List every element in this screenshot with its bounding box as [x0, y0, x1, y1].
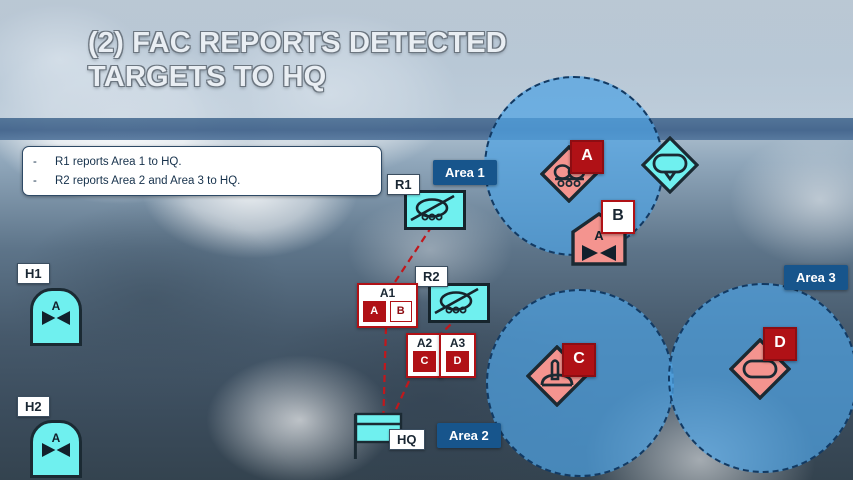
header-divider-rule [0, 118, 853, 140]
note-text: R1 reports Area 1 to HQ. [55, 156, 182, 168]
recon-wheeled-icon [431, 286, 483, 316]
target-d-chip: D [763, 327, 797, 361]
report-a2[interactable]: A2 C [406, 333, 443, 378]
area-1-badge: Area 1 [433, 160, 497, 185]
recon-unit-r1-label: R1 [387, 174, 420, 195]
report-a3[interactable]: A3 D [439, 333, 476, 378]
recon-wheeled-icon [407, 193, 459, 223]
recon-unit-r2[interactable] [428, 283, 490, 323]
recon-unit-r1[interactable] [404, 190, 466, 230]
report-a1-slot-b: B [390, 301, 413, 322]
report-a2-slot-c: C [413, 351, 436, 372]
note-text: R2 reports Area 2 and Area 3 to HQ. [55, 175, 240, 187]
target-air-defense[interactable] [641, 136, 699, 194]
target-a-chip: A [570, 140, 604, 174]
friendly-unit-h2[interactable]: A [30, 420, 82, 478]
friendly-unit-h1[interactable]: A [30, 288, 82, 346]
note-item-2: -R2 reports Area 2 and Area 3 to HQ. [33, 172, 381, 191]
infantry-bowtie-icon [41, 310, 71, 326]
report-a1[interactable]: A1 A B [357, 283, 418, 328]
area-3-badge: Area 3 [784, 265, 848, 290]
friendly-unit-h1-label: H1 [17, 263, 50, 284]
report-a3-slot-d: D [446, 351, 469, 372]
air-defense-radar-icon [641, 136, 699, 194]
friendly-unit-h2-label: H2 [17, 396, 50, 417]
slide-canvas: (2) FAC REPORTS DETECTED TARGETS TO HQ -… [0, 0, 853, 480]
report-a3-title: A3 [441, 335, 474, 351]
infantry-bowtie-icon [41, 442, 71, 458]
bullet-marker: - [33, 172, 55, 191]
area-2-badge: Area 2 [437, 423, 501, 448]
report-a1-title: A1 [359, 285, 416, 301]
recon-unit-r2-label: R2 [415, 266, 448, 287]
target-b-chip: B [601, 200, 635, 234]
bullet-marker: - [33, 153, 55, 172]
target-c-chip: C [562, 343, 596, 377]
hq-label: HQ [389, 429, 425, 450]
note-item-1: -R1 reports Area 1 to HQ. [33, 153, 381, 172]
report-a1-slot-a: A [363, 301, 386, 322]
report-a2-title: A2 [408, 335, 441, 351]
notes-box: -R1 reports Area 1 to HQ. -R2 reports Ar… [22, 146, 382, 196]
